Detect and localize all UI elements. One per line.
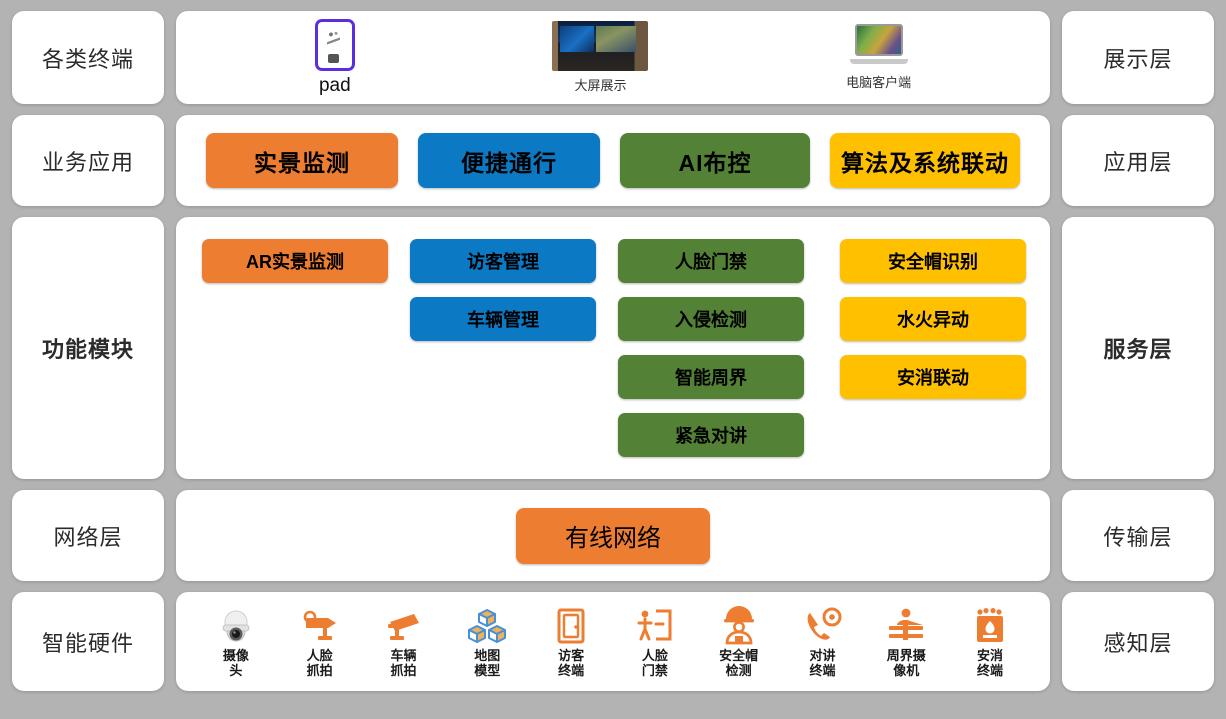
hardware-label: 访客 终端 xyxy=(558,648,584,678)
hardware-label: 周界摄 像机 xyxy=(887,648,926,678)
terminal-item-pad[interactable]: pad xyxy=(315,19,355,97)
hardware-label: 人脸 门禁 xyxy=(642,648,668,678)
dome-camera-icon xyxy=(215,606,257,646)
terminal-label: 大屏展示 xyxy=(574,75,626,94)
intercom-phone-icon xyxy=(801,606,843,646)
hardware-label: 对讲 终端 xyxy=(809,648,835,678)
vehicle-capture-camera-icon xyxy=(382,606,424,646)
left-label-terminals: 各类终端 xyxy=(12,11,164,104)
hardware-item-face-access-gate[interactable]: 人脸 门禁 xyxy=(618,606,692,678)
module-chip[interactable]: AR实景监测 xyxy=(202,239,388,283)
hardware-label: 人脸 抓拍 xyxy=(307,648,333,678)
right-label-text: 展示层 xyxy=(1103,42,1172,74)
layer-row-presentation: 各类终端 pad 大屏展示 电脑客户端 xyxy=(12,11,1214,104)
hardware-label: 地图 模型 xyxy=(474,648,500,678)
terminals-panel: pad 大屏展示 电脑客户端 xyxy=(176,11,1050,104)
hardware-panel: 摄像 头 人脸 抓拍 xyxy=(176,592,1050,691)
layer-row-service: 功能模块 AR实景监测 访客管理 车辆管理 人脸门禁 入侵检测 智能周界 紧急对… xyxy=(12,217,1214,479)
module-chip[interactable]: 安全帽识别 xyxy=(840,239,1026,283)
face-capture-camera-icon xyxy=(299,606,341,646)
hardware-item-map-model[interactable]: 地图 模型 xyxy=(450,606,524,678)
module-column-ar: AR实景监测 xyxy=(202,239,388,479)
layer-row-application: 业务应用 实景监测 便捷通行 AI布控 算法及系统联动 应用层 xyxy=(12,115,1214,206)
business-app-chip[interactable]: 便捷通行 xyxy=(418,133,600,188)
module-chip[interactable]: 车辆管理 xyxy=(410,297,596,341)
fire-safety-terminal-icon xyxy=(969,606,1011,646)
tablet-icon xyxy=(315,19,355,71)
terminal-label: 电脑客户端 xyxy=(846,72,911,91)
video-wall-icon xyxy=(552,21,648,71)
map-model-icon xyxy=(466,606,508,646)
laptop-icon xyxy=(850,24,908,68)
visitor-terminal-icon xyxy=(550,606,592,646)
hardware-item-helmet-detection[interactable]: 安全帽 检测 xyxy=(702,606,776,678)
modules-panel: AR实景监测 访客管理 车辆管理 人脸门禁 入侵检测 智能周界 紧急对讲 安全帽… xyxy=(176,217,1050,479)
module-chip[interactable]: 水火异动 xyxy=(840,297,1026,341)
module-chip[interactable]: 紧急对讲 xyxy=(618,413,804,457)
hardware-label: 车辆 抓拍 xyxy=(390,648,416,678)
left-label-text: 网络层 xyxy=(53,520,122,552)
module-column-access: 访客管理 车辆管理 xyxy=(410,239,596,479)
terminal-item-video-wall[interactable]: 大屏展示 xyxy=(552,21,648,94)
module-chip[interactable]: 人脸门禁 xyxy=(618,239,804,283)
left-label-text: 各类终端 xyxy=(42,42,134,74)
layer-row-transport: 网络层 有线网络 传输层 xyxy=(12,490,1214,581)
module-column-ai: 人脸门禁 入侵检测 智能周界 紧急对讲 xyxy=(618,239,804,479)
hardware-label: 摄像 头 xyxy=(223,648,249,678)
left-label-smart-hardware: 智能硬件 xyxy=(12,592,164,691)
left-label-text: 业务应用 xyxy=(42,145,134,177)
hardware-item-vehicle-capture[interactable]: 车辆 抓拍 xyxy=(366,606,440,678)
terminal-item-laptop[interactable]: 电脑客户端 xyxy=(846,24,911,91)
business-app-chip[interactable]: AI布控 xyxy=(620,133,810,188)
helmet-worker-icon xyxy=(718,606,760,646)
right-label-text: 感知层 xyxy=(1103,626,1172,658)
layer-row-perception: 智能硬件 摄像 头 xyxy=(12,592,1214,691)
right-label-perception-layer: 感知层 xyxy=(1062,592,1214,691)
right-label-service-layer: 服务层 xyxy=(1062,217,1214,479)
left-label-business-apps: 业务应用 xyxy=(12,115,164,206)
module-chip[interactable]: 访客管理 xyxy=(410,239,596,283)
left-label-network: 网络层 xyxy=(12,490,164,581)
business-app-chip[interactable]: 算法及系统联动 xyxy=(830,133,1020,188)
architecture-diagram: 各类终端 pad 大屏展示 电脑客户端 xyxy=(0,0,1226,719)
left-label-text: 智能硬件 xyxy=(42,626,134,658)
hardware-label: 安全帽 检测 xyxy=(719,648,758,678)
hardware-item-perimeter-camera[interactable]: 周界摄 像机 xyxy=(869,606,943,678)
right-label-transport-layer: 传输层 xyxy=(1062,490,1214,581)
right-label-application-layer: 应用层 xyxy=(1062,115,1214,206)
right-label-text: 应用层 xyxy=(1103,145,1172,177)
right-label-presentation-layer: 展示层 xyxy=(1062,11,1214,104)
module-column-linkage: 安全帽识别 水火异动 安消联动 xyxy=(840,239,1026,479)
business-apps-panel: 实景监测 便捷通行 AI布控 算法及系统联动 xyxy=(176,115,1050,206)
right-label-text: 服务层 xyxy=(1103,332,1172,364)
hardware-item-dome-camera[interactable]: 摄像 头 xyxy=(199,606,273,678)
module-chip[interactable]: 安消联动 xyxy=(840,355,1026,399)
left-label-text: 功能模块 xyxy=(42,332,134,364)
hardware-item-face-capture[interactable]: 人脸 抓拍 xyxy=(283,606,357,678)
left-label-function-modules: 功能模块 xyxy=(12,217,164,479)
perimeter-camera-icon xyxy=(885,606,927,646)
network-chip[interactable]: 有线网络 xyxy=(516,508,710,564)
right-label-text: 传输层 xyxy=(1103,520,1172,552)
hardware-item-fire-safety-terminal[interactable]: 安消 终端 xyxy=(953,606,1027,678)
hardware-item-visitor-terminal[interactable]: 访客 终端 xyxy=(534,606,608,678)
terminal-label: pad xyxy=(319,75,351,97)
face-access-gate-icon xyxy=(634,606,676,646)
module-chip[interactable]: 入侵检测 xyxy=(618,297,804,341)
hardware-item-intercom[interactable]: 对讲 终端 xyxy=(785,606,859,678)
business-app-chip[interactable]: 实景监测 xyxy=(206,133,398,188)
hardware-label: 安消 终端 xyxy=(977,648,1003,678)
network-panel: 有线网络 xyxy=(176,490,1050,581)
module-chip[interactable]: 智能周界 xyxy=(618,355,804,399)
